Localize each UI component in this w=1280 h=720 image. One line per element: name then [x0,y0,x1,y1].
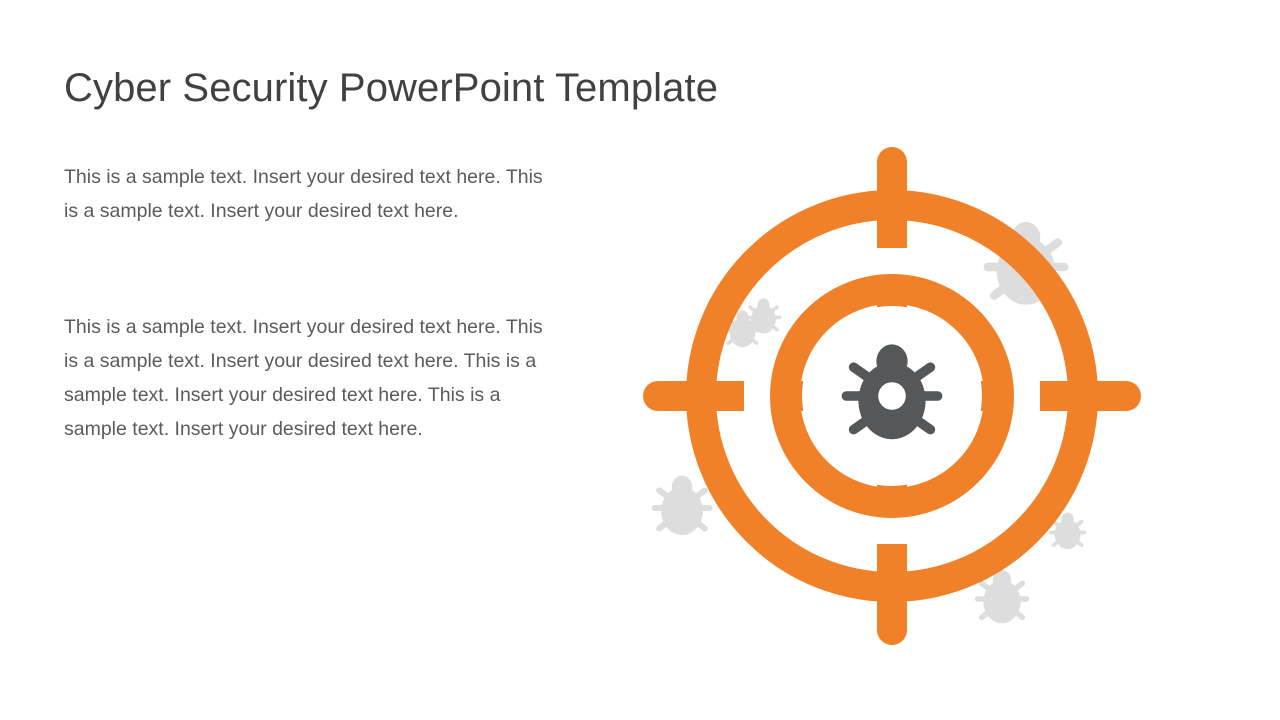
slide-canvas: Cyber Security PowerPoint Template This … [0,0,1280,720]
body-paragraph-1-wrapper: This is a sample text. Insert your desir… [64,160,556,228]
bug-icon-mid-left-small [747,299,779,334]
body-paragraph-1: This is a sample text. Insert your desir… [64,160,556,228]
body-paragraph-2-wrapper: This is a sample text. Insert your desir… [64,310,556,446]
bug-icon-bottom-left-medium [655,476,710,535]
crosshair-target-graphic [636,140,1148,652]
body-paragraph-2: This is a sample text. Insert your desir… [64,310,556,446]
page-title: Cyber Security PowerPoint Template [64,65,718,111]
